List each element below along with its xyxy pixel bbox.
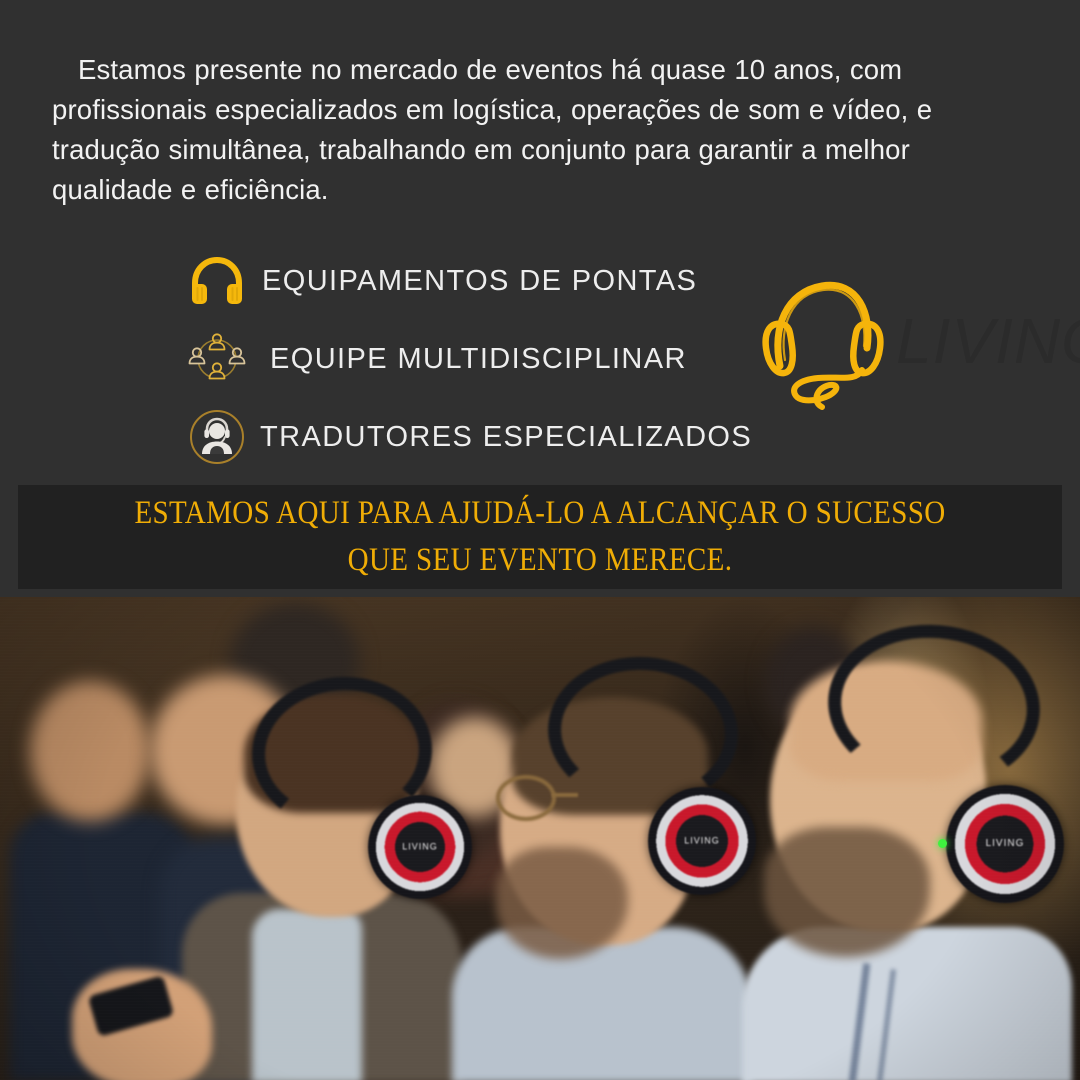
background-person: [30, 681, 150, 821]
attendee-right-body: [742, 927, 1072, 1080]
headphone-cup: LIVING: [368, 795, 472, 899]
headphones-icon: [186, 250, 248, 312]
eyeglasses-bridge: [552, 793, 578, 797]
promo-slide: Estamos presente no mercado de eventos h…: [0, 0, 1080, 1080]
conference-audience-photo: LIVING LIVING LIVING: [0, 597, 1080, 1080]
feature-item-equipamentos: EQUIPAMENTOS DE PONTAS: [186, 246, 786, 316]
intro-paragraph: Estamos presente no mercado de eventos h…: [52, 50, 1002, 210]
headphone-brand-label: LIVING: [368, 843, 472, 852]
feature-list: EQUIPAMENTOS DE PONTAS: [186, 246, 786, 472]
intro-block: Estamos presente no mercado de eventos h…: [52, 50, 1002, 210]
attendee-center-beard: [496, 847, 628, 959]
brand-logo: LIVING: [752, 268, 1080, 413]
cta-text: ESTAMOS AQUI PARA AJUDÁ-LO A ALCANÇAR O …: [105, 490, 974, 584]
headphone-status-led: [938, 839, 947, 848]
feature-item-tradutores: TRADUTORES ESPECIALIZADOS: [186, 402, 786, 472]
attendee-right-beard: [764, 827, 930, 957]
cta-banner: ESTAMOS AQUI PARA AJUDÁ-LO A ALCANÇAR O …: [18, 485, 1062, 589]
attendee-left-shirt: [252, 909, 362, 1080]
feature-label: TRADUTORES ESPECIALIZADOS: [260, 423, 752, 452]
feature-label: EQUIPAMENTOS DE PONTAS: [262, 267, 697, 296]
attendee-center-body: [452, 927, 752, 1080]
translator-headset-icon: [186, 406, 248, 468]
headphone-brand-label: LIVING: [946, 839, 1064, 849]
team-network-icon: [186, 328, 248, 390]
headphone-brand-label: LIVING: [648, 837, 756, 846]
feature-label: EQUIPE MULTIDISCIPLINAR: [270, 345, 687, 374]
eyeglasses: [496, 775, 556, 821]
brand-wordmark: LIVING: [896, 309, 1080, 373]
headphone-cup: LIVING: [648, 787, 756, 895]
feature-item-equipe: EQUIPE MULTIDISCIPLINAR: [186, 324, 786, 394]
headphone-cup: LIVING: [946, 785, 1064, 903]
